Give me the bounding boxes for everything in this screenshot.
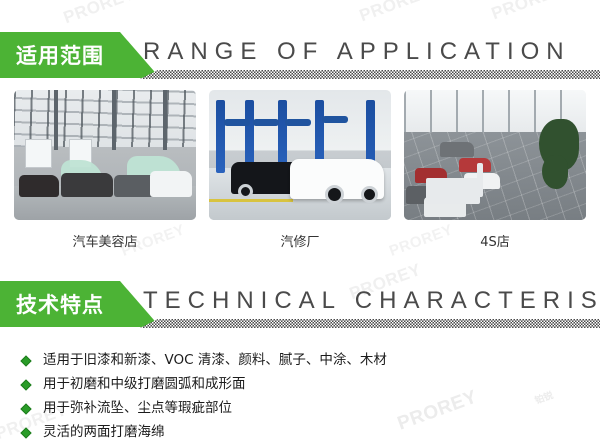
section-title-range: RANGE OF APPLICATION xyxy=(143,38,571,66)
watermark-brand: PROREY xyxy=(489,0,566,24)
section-tag-range: 适用范围 xyxy=(0,32,160,78)
section-tag-label: 适用范围 xyxy=(0,40,104,70)
hatch-rule xyxy=(140,70,600,79)
diamond-bullet-icon xyxy=(20,427,31,438)
list-item: 灵活的两面打磨海绵 xyxy=(18,424,578,441)
gallery-caption: 4S店 xyxy=(404,231,586,250)
section-header-technical: 技术特点 TECHNICAL CHARACTERISTICS xyxy=(0,281,600,327)
section-tag-technical: 技术特点 xyxy=(0,281,160,327)
list-item: 用于初磨和中级打磨圆弧和成形面 xyxy=(18,376,578,393)
feature-text: 用于初磨和中级打磨圆弧和成形面 xyxy=(43,376,246,393)
diamond-bullet-icon xyxy=(20,355,31,366)
list-item: 用于弥补流坠、尘点等瑕疵部位 xyxy=(18,400,578,417)
gallery-caption: 汽修厂 xyxy=(209,231,391,250)
gallery-item: 汽车美容店 xyxy=(14,90,196,250)
section-header-range: 适用范围 RANGE OF APPLICATION xyxy=(0,32,600,78)
gallery-item: 汽修厂 xyxy=(209,90,391,250)
application-gallery: 汽车美容店 汽修厂 xyxy=(0,90,600,250)
photo-car-detailing-shop xyxy=(14,90,196,220)
watermark-brand: PROREY xyxy=(357,0,434,26)
gallery-item: 4S店 xyxy=(404,90,586,250)
feature-text: 适用于旧漆和新漆、VOC 清漆、颜料、腻子、中涂、木材 xyxy=(43,352,387,369)
feature-list: 适用于旧漆和新漆、VOC 清漆、颜料、腻子、中涂、木材 用于初磨和中级打磨圆弧和… xyxy=(18,352,578,448)
diamond-bullet-icon xyxy=(20,403,31,414)
gallery-caption: 汽车美容店 xyxy=(14,231,196,250)
list-item: 适用于旧漆和新漆、VOC 清漆、颜料、腻子、中涂、木材 xyxy=(18,352,578,369)
feature-text: 用于弥补流坠、尘点等瑕疵部位 xyxy=(43,400,232,417)
feature-text: 灵活的两面打磨海绵 xyxy=(43,424,165,441)
watermark-brand: PROREY xyxy=(61,0,138,28)
section-title-technical: TECHNICAL CHARACTERISTICS xyxy=(143,287,600,315)
hatch-rule xyxy=(140,319,600,328)
photo-dealership-showroom xyxy=(404,90,586,220)
diamond-bullet-icon xyxy=(20,379,31,390)
photo-auto-repair-workshop xyxy=(209,90,391,220)
section-tag-label: 技术特点 xyxy=(0,289,104,319)
